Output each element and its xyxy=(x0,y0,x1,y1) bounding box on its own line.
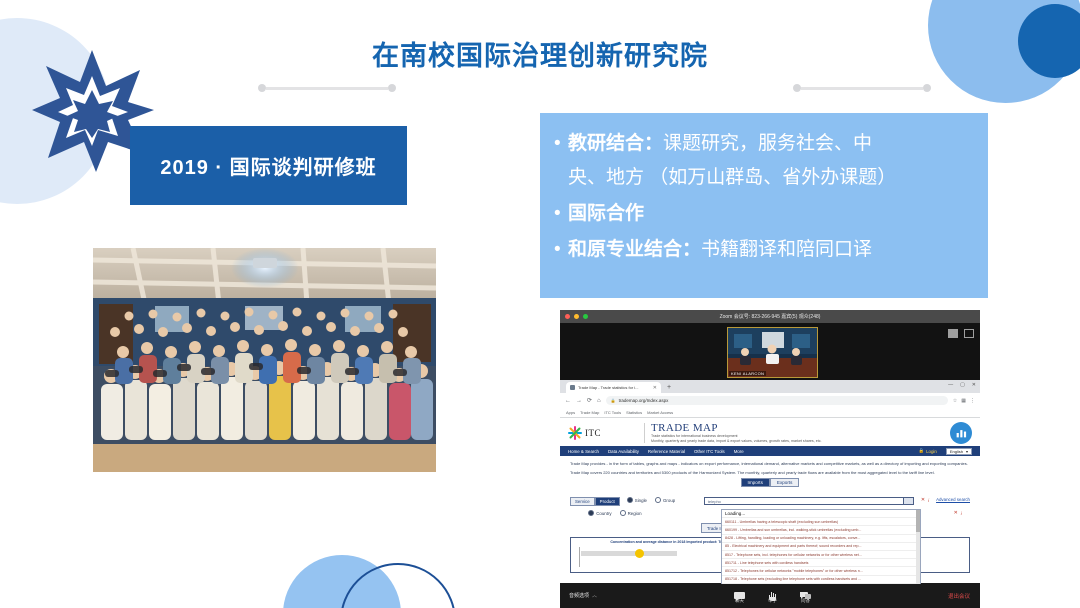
bookmark-item[interactable]: ITC Tools xyxy=(604,410,621,415)
minimize-icon[interactable] xyxy=(574,314,579,319)
qa-icon xyxy=(800,588,811,597)
bookmark-item[interactable]: Trade Map xyxy=(580,410,599,415)
slide-canvas: 在南校国际治理创新研究院 2019 · 国际谈判研修班 xyxy=(0,0,1080,608)
chart-axis xyxy=(579,547,580,567)
search-submit-icon[interactable] xyxy=(903,498,913,504)
nav-item-more[interactable]: More xyxy=(734,449,744,454)
new-tab-button[interactable]: + xyxy=(667,382,671,393)
radio-group-label: Group xyxy=(663,498,675,503)
itc-brand-text: ITC xyxy=(585,428,601,438)
zoom-meeting-info: Zoom 会议号: 823-266-945 嘉宾(5) 观众(248) xyxy=(720,313,821,320)
qa-button[interactable]: 问答 xyxy=(800,588,811,604)
radio-dot-icon xyxy=(655,497,661,503)
minimize-icon[interactable]: — xyxy=(948,382,953,388)
bullet-marker: • xyxy=(554,197,568,231)
tab-exports[interactable]: Exports xyxy=(770,478,800,487)
trademap-page: ITC TRADE MAP Trade statistics for inter… xyxy=(560,418,980,584)
bookmark-item[interactable]: Apps xyxy=(566,410,575,415)
zoom-toolbar[interactable]: 音频选项 ︿ 聊天 举手 xyxy=(560,583,980,608)
chart-globe-icon xyxy=(950,422,972,444)
menu-icon[interactable]: ⋮ xyxy=(970,398,975,404)
divider-left xyxy=(258,86,396,90)
bullet-text: 和原专业结合：书籍翻译和陪同口译 xyxy=(568,233,872,267)
extensions-icon[interactable]: ▦ xyxy=(961,398,966,404)
subtitle-text: 2019 · 国际谈判研修班 xyxy=(160,151,376,180)
zoom-meeting-screenshot: Zoom 会议号: 823-266-945 嘉宾(5) 观众(248) xyxy=(560,310,980,608)
product-search-value: telepho xyxy=(708,499,721,504)
dropdown-option[interactable]: 851711 - Line telephone sets with cordle… xyxy=(722,558,920,566)
radio-region-label: Region xyxy=(628,511,642,516)
bullet-marker: • xyxy=(554,233,568,267)
dropdown-option[interactable]: 660111 - Umbrellas having a telescopic s… xyxy=(722,517,920,525)
dropdown-option[interactable]: 8428 - Lifting, handling, loading or unl… xyxy=(722,534,920,542)
gallery-view-icon[interactable] xyxy=(948,329,958,338)
lock-icon: 🔒 xyxy=(919,448,924,454)
dropdown-option[interactable]: 851769 - Line telephone sets, videophone… xyxy=(722,583,920,584)
chart-bubble xyxy=(635,549,644,558)
raise-hand-button[interactable]: 举手 xyxy=(767,588,778,604)
zoom-toolbar-center: 聊天 举手 问答 xyxy=(597,588,948,604)
language-select[interactable]: English ▾ xyxy=(946,448,972,455)
intro-paragraph-1: Trade Map provides - in the form of tabl… xyxy=(570,461,970,467)
radio-dot-icon xyxy=(588,510,594,516)
dropdown-option[interactable]: 660199 - Umbrellas and sun umbrellas, in… xyxy=(722,525,920,533)
divider-dot-right xyxy=(388,84,396,92)
trademap-header: ITC TRADE MAP Trade statistics for inter… xyxy=(560,418,980,446)
home-icon[interactable]: ⌂ xyxy=(597,398,601,404)
audio-options-label: 音频选项 xyxy=(569,592,589,599)
window-controls[interactable] xyxy=(565,314,588,319)
address-bar-url: trademap.org/Index.aspx xyxy=(619,398,669,403)
bookmark-item[interactable]: Market Access xyxy=(647,410,673,415)
bookmark-star-icon[interactable]: ☆ xyxy=(953,398,957,404)
participant-name-label: KENI ALARCON xyxy=(729,371,766,376)
divider-dot-right xyxy=(923,84,931,92)
fullscreen-icon[interactable] xyxy=(964,329,974,338)
group-photo xyxy=(93,248,436,472)
browser-window-buttons[interactable]: — ▢ ✕ xyxy=(948,382,976,388)
zoom-view-controls[interactable] xyxy=(948,329,974,338)
maximize-icon[interactable] xyxy=(583,314,588,319)
reload-icon[interactable]: ⟳ xyxy=(587,397,592,404)
intro-paragraph-2: Trade Map covers 220 countries and terri… xyxy=(570,470,970,476)
radio-country-label: Country xyxy=(596,511,611,516)
dropdown-option[interactable]: 85 - Electrical machinery and equipment … xyxy=(722,542,920,550)
decor-circle-lightblue-bottom xyxy=(283,555,401,608)
trademap-search-form: Service Product Single Group xyxy=(560,497,980,533)
bullet-lead: 和原专业结合： xyxy=(568,239,701,260)
bullet-item-2: • 国际合作 xyxy=(554,197,972,231)
trademap-titles: TRADE MAP Trade statistics for internati… xyxy=(651,423,950,443)
bullet-marker: • xyxy=(554,127,568,195)
leave-meeting-button[interactable]: 退出会议 xyxy=(948,592,970,600)
login-button[interactable]: 🔒 Login xyxy=(919,448,937,454)
radio-country[interactable]: Country xyxy=(588,510,611,516)
country-region-radios[interactable]: Country Region xyxy=(588,510,658,516)
itc-logo-icon xyxy=(568,426,582,440)
audio-options-button[interactable]: 音频选项 ︿ xyxy=(569,592,597,599)
close-icon[interactable]: ✕ xyxy=(653,385,657,391)
bullet-continuation: 央、地方 （如万山群岛、省外办课题） xyxy=(568,167,896,188)
nav-item-data-availability[interactable]: Data Availability xyxy=(608,449,639,454)
trademap-subheading-2: Monthly, quarterly and yearly trade data… xyxy=(651,439,950,444)
bullet-panel: • 教研结合：课题研究，服务社会、中 央、地方 （如万山群岛、省外办课题） • … xyxy=(540,113,988,298)
maximize-icon[interactable]: ▢ xyxy=(960,382,965,388)
back-icon[interactable]: ← xyxy=(565,398,571,404)
browser-window: Trade Map - Trade statistics for i... ✕ … xyxy=(560,380,980,583)
radio-region[interactable]: Region xyxy=(620,510,642,516)
dropdown-loading-label: Loading... xyxy=(722,510,920,517)
browser-tab-title: Trade Map - Trade statistics for i... xyxy=(578,385,639,390)
clear-icon[interactable]: ✕ xyxy=(921,497,925,503)
bullet-text: 国际合作 xyxy=(568,197,644,231)
radio-group[interactable]: Group xyxy=(655,497,675,503)
bullet-rest: 课题研究，服务社会、中 xyxy=(663,133,872,154)
bullet-item-1: • 教研结合：课题研究，服务社会、中 央、地方 （如万山群岛、省外办课题） xyxy=(554,127,972,195)
nav-item-home-search[interactable]: Home & Search xyxy=(568,449,599,454)
forward-icon[interactable]: → xyxy=(576,398,582,404)
nav-item-other-itc-tools[interactable]: Other ITC Tools xyxy=(694,449,725,454)
search-row-product: Service Product Single Group xyxy=(570,497,970,506)
trademap-intro: Trade Map provides - in the form of tabl… xyxy=(560,456,980,497)
country-row-actions[interactable]: ✕ i xyxy=(954,510,962,516)
page-title: 在南校国际治理创新研究院 xyxy=(0,34,1080,73)
dropdown-option[interactable]: 851718 - Telephone sets (excluding line … xyxy=(722,575,920,583)
divider-right xyxy=(793,86,931,90)
imports-exports-tabs[interactable]: Imports Exports xyxy=(570,478,970,487)
info-icon[interactable]: i xyxy=(928,498,929,503)
browser-toolbar: ← → ⟳ ⌂ 🔒 trademap.org/Index.aspx ☆ ▦ ⋮ xyxy=(560,393,980,408)
trademap-heading: TRADE MAP xyxy=(651,423,950,434)
bookmarks-bar: Apps Trade Map ITC Tools Statistics Mark… xyxy=(560,408,980,418)
chat-button[interactable]: 聊天 xyxy=(734,588,745,604)
favicon-icon xyxy=(570,385,575,390)
chat-icon xyxy=(734,588,745,597)
raise-hand-icon xyxy=(767,588,778,597)
divider-dot-left xyxy=(793,84,801,92)
nav-item-reference-material[interactable]: Reference Material xyxy=(648,449,685,454)
decor-circle-outline-bottom xyxy=(340,563,456,608)
product-search-input[interactable]: telepho xyxy=(704,497,914,505)
zoom-titlebar: Zoom 会议号: 823-266-945 嘉宾(5) 观众(248) xyxy=(560,310,980,323)
advanced-search-link[interactable]: Advanced search xyxy=(936,497,970,502)
toggle-service[interactable]: Service xyxy=(570,497,595,506)
divider-bar-left xyxy=(266,87,388,90)
browser-tabbar: Trade Map - Trade statistics for i... ✕ … xyxy=(560,380,980,393)
dropdown-option[interactable]: 851712 - Telephones for cellular network… xyxy=(722,566,920,574)
header-divider xyxy=(644,423,645,443)
close-icon[interactable] xyxy=(565,314,570,319)
radio-single[interactable]: Single xyxy=(627,497,647,503)
clear-icon[interactable]: ✕ xyxy=(954,510,958,516)
bullet-lead: 教研结合： xyxy=(568,133,663,154)
dropdown-scrollbar[interactable] xyxy=(916,510,920,584)
chart-bar xyxy=(581,551,677,556)
login-label: Login xyxy=(926,449,937,454)
address-bar[interactable]: 🔒 trademap.org/Index.aspx xyxy=(606,396,948,405)
chevron-down-icon: ▾ xyxy=(966,449,968,454)
tab-imports[interactable]: Imports xyxy=(741,478,770,487)
bullet-item-3: • 和原专业结合：书籍翻译和陪同口译 xyxy=(554,233,972,267)
divider-bar-right xyxy=(801,87,923,90)
video-tile[interactable]: KENI ALARCON xyxy=(727,327,818,378)
radio-dot-icon xyxy=(627,497,633,503)
browser-action-icons[interactable]: ☆ ▦ ⋮ xyxy=(953,398,975,404)
product-row-actions[interactable]: ✕ i xyxy=(921,497,929,503)
toggle-product[interactable]: Product xyxy=(595,497,620,506)
single-group-radios[interactable]: Single Group xyxy=(627,497,697,503)
service-product-toggle[interactable]: Service Product xyxy=(570,497,620,506)
zoom-video-stage: KENI ALARCON xyxy=(560,323,980,380)
divider-dot-left xyxy=(258,84,266,92)
lock-icon: 🔒 xyxy=(611,398,616,403)
dropdown-option[interactable]: 8517 - Telephone sets, incl. telephones … xyxy=(722,550,920,558)
browser-tab[interactable]: Trade Map - Trade statistics for i... ✕ xyxy=(566,382,661,393)
bookmark-item[interactable]: Statistics xyxy=(626,410,642,415)
radio-dot-icon xyxy=(620,510,626,516)
info-icon[interactable]: i xyxy=(961,511,962,516)
close-icon[interactable]: ✕ xyxy=(972,382,976,388)
trademap-nav[interactable]: Home & Search Data Availability Referenc… xyxy=(560,446,980,456)
subtitle-box: 2019 · 国际谈判研修班 xyxy=(130,126,407,205)
language-label: English xyxy=(950,449,963,454)
itc-brand: ITC xyxy=(568,426,638,440)
radio-single-label: Single xyxy=(635,498,647,503)
bullet-text: 教研结合：课题研究，服务社会、中 央、地方 （如万山群岛、省外办课题） xyxy=(568,127,896,195)
bullet-rest: 书籍翻译和陪同口译 xyxy=(701,239,872,260)
autocomplete-dropdown[interactable]: Loading... 660111 - Umbrellas having a t… xyxy=(721,509,921,584)
